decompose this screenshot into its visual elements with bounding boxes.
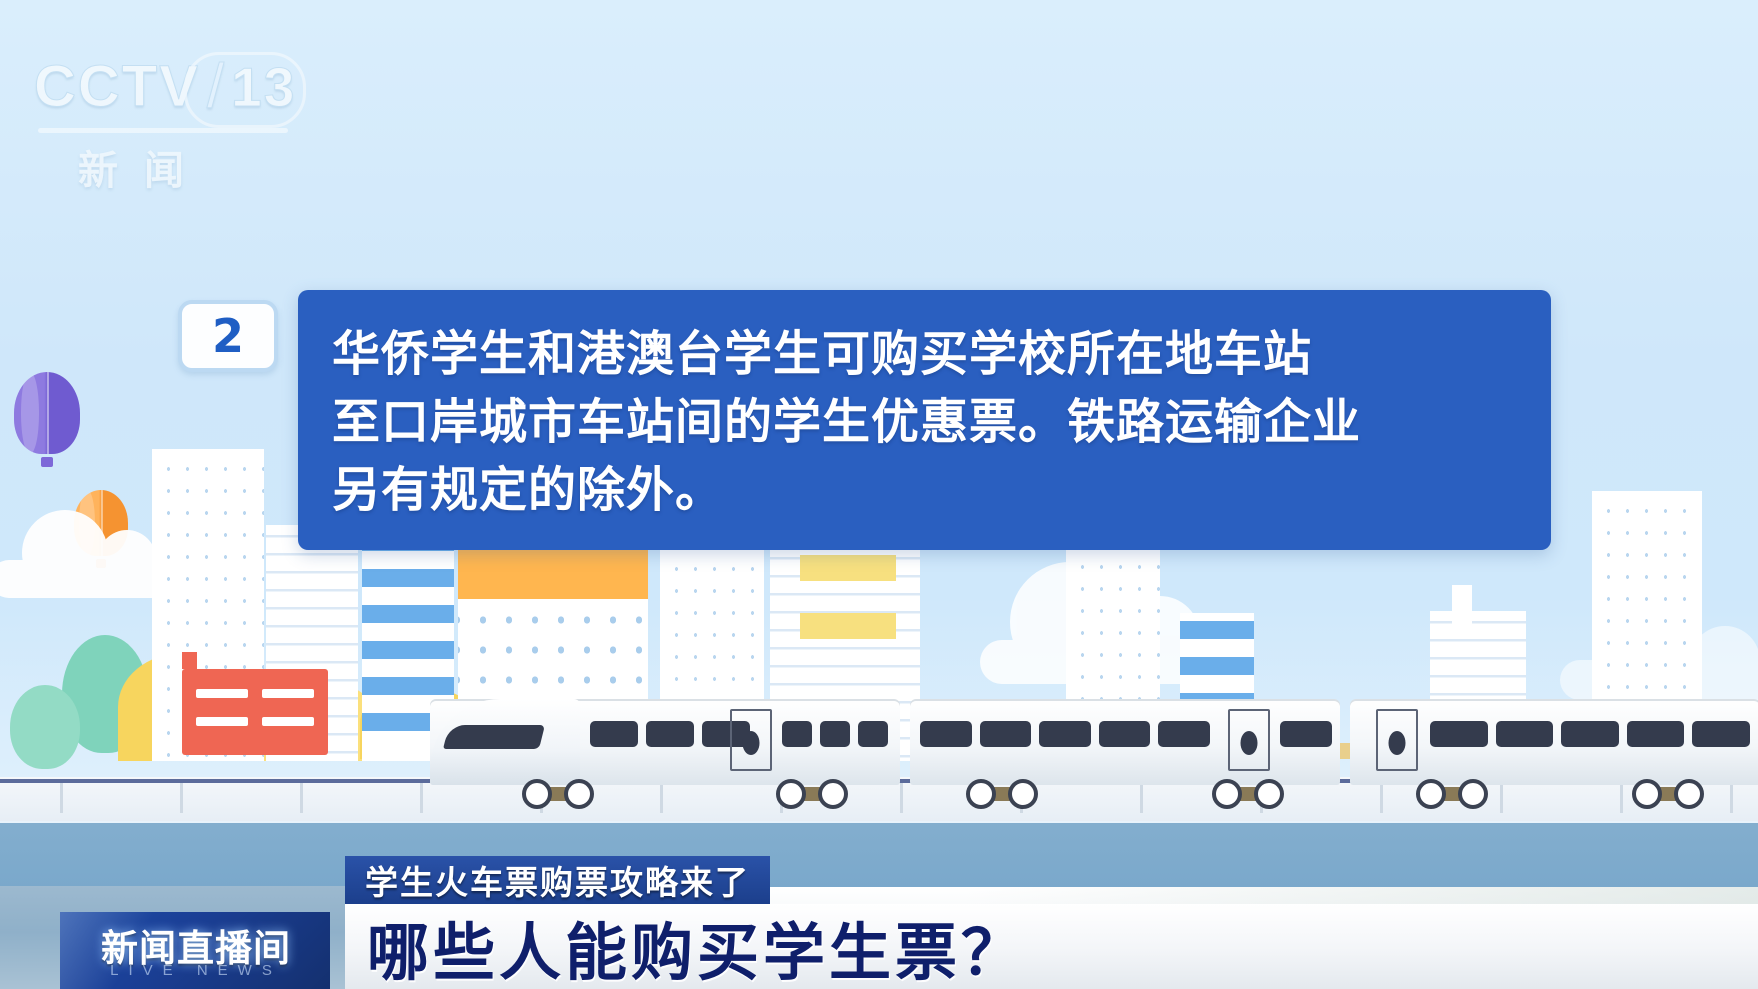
rail-tie xyxy=(660,783,663,813)
info-card: 华侨学生和港澳台学生可购买学校所在地车站 至口岸城市车站间的学生优惠票。铁路运输… xyxy=(298,290,1551,550)
door-handle-icon xyxy=(1241,731,1258,755)
train-door xyxy=(1376,709,1418,771)
broadcast-screen: CCTV / 13 新闻 xyxy=(0,0,1758,989)
train-bogie xyxy=(1636,787,1700,801)
red-storefront-sign xyxy=(182,669,328,755)
rail-tie xyxy=(1620,783,1623,813)
train-locomotive xyxy=(430,699,900,785)
rail-tie xyxy=(180,783,183,813)
train-carriage xyxy=(910,699,1340,785)
high-speed-train-illustration xyxy=(430,693,1758,785)
lower-third-headline-bar: 哪些人能购买学生票？ xyxy=(345,904,1758,989)
door-handle-icon xyxy=(1389,731,1406,755)
info-card-line-2: 至口岸城市车站间的学生优惠票。铁路运输企业 xyxy=(332,388,1517,456)
train-nose xyxy=(430,699,580,785)
rail-tie xyxy=(60,783,63,813)
sign-line xyxy=(262,689,314,698)
building-band-accent xyxy=(800,613,896,639)
office-tower-building xyxy=(1452,585,1472,629)
tree-icon xyxy=(10,685,80,769)
program-bug-english-text: LIVE NEWS xyxy=(78,962,314,979)
train-door xyxy=(1228,709,1270,771)
train-door xyxy=(730,709,772,771)
train-carriage xyxy=(1350,699,1758,785)
train-bogie xyxy=(526,787,590,801)
sign-line xyxy=(196,689,248,698)
train-window-row xyxy=(920,721,1210,747)
rail-tie xyxy=(300,783,303,813)
rail-tie xyxy=(900,783,903,813)
building-band-accent xyxy=(800,555,896,581)
flag-icon xyxy=(182,652,197,669)
rail-tie xyxy=(1140,783,1143,813)
waterfront-strip xyxy=(0,823,1758,889)
train-bogie xyxy=(1216,787,1280,801)
rail-tie xyxy=(1500,783,1503,813)
train-bogie xyxy=(1420,787,1484,801)
rail-tie xyxy=(420,783,423,813)
train-window-row xyxy=(590,721,750,747)
sign-line xyxy=(262,717,314,726)
lower-third-topic-bar: 学生火车票购票攻略来了 xyxy=(345,856,770,904)
train-window-row xyxy=(1430,721,1750,747)
lower-third-topic-text: 学生火车票购票攻略来了 xyxy=(365,856,750,904)
rail-tie xyxy=(1380,783,1383,813)
info-card-line-1: 华侨学生和港澳台学生可购买学校所在地车站 xyxy=(332,320,1517,388)
door-handle-icon xyxy=(743,731,760,755)
train-window-row xyxy=(1280,721,1332,747)
badge-number-text: 2 xyxy=(212,313,244,359)
info-card-line-3: 另有规定的除外。 xyxy=(332,456,1517,524)
program-bug: 新闻直播间 LIVE NEWS xyxy=(60,912,330,989)
rail-tie xyxy=(1730,783,1733,813)
sign-line xyxy=(196,717,248,726)
lower-third-headline-text: 哪些人能购买学生票？ xyxy=(367,902,1027,989)
train-bogie xyxy=(970,787,1034,801)
train-bogie xyxy=(780,787,844,801)
train-windshield xyxy=(443,725,545,749)
train-window-row xyxy=(782,721,888,747)
info-card-number-badge: 2 xyxy=(178,300,278,372)
